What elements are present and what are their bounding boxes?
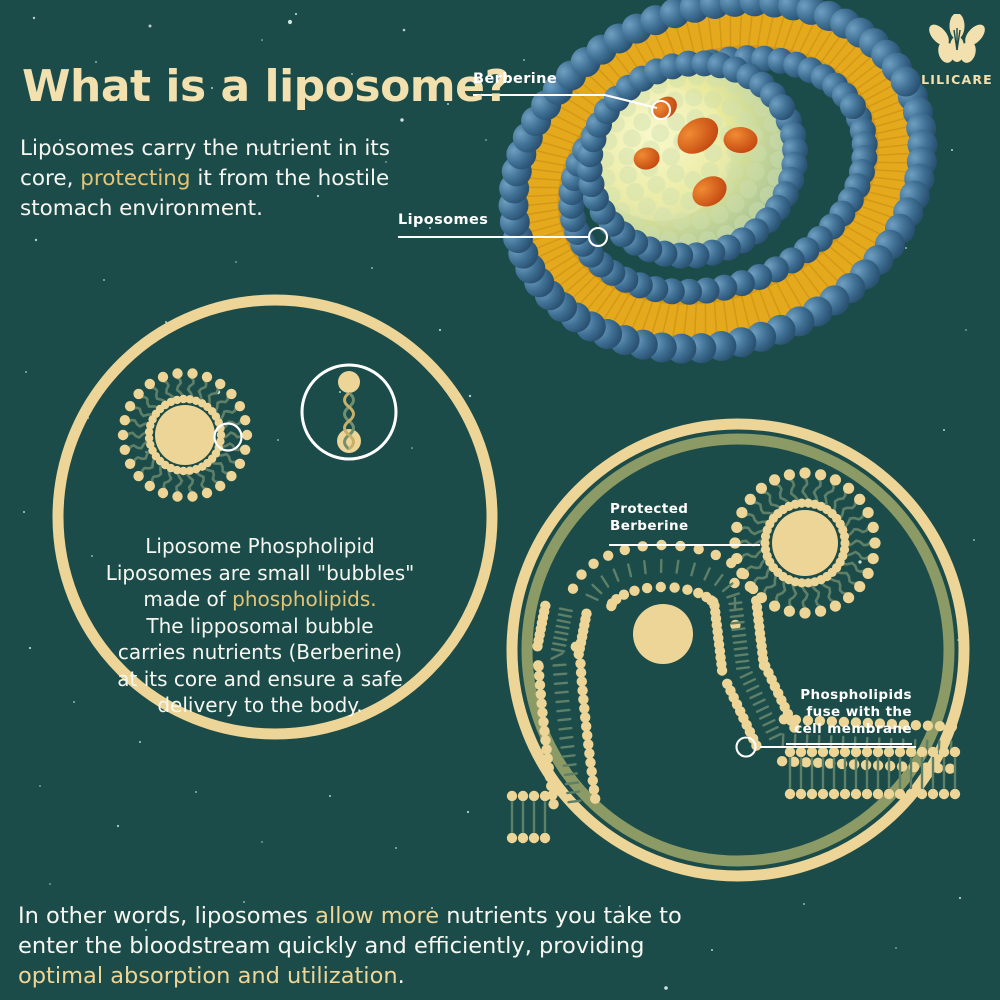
footer-paragraph: In other words, liposomes allow more nut…	[18, 901, 698, 991]
footer-part1: In other words, liposomes	[18, 903, 315, 929]
left-line-1: Liposome Phospholipid	[95, 533, 425, 560]
protected-line-1: Protected	[610, 501, 689, 518]
intro-highlight: protecting	[80, 166, 190, 191]
brand-name: LILICARE	[921, 72, 993, 87]
lily-flower-icon	[924, 14, 990, 66]
intro-paragraph: Liposomes carry the nutrient in its core…	[20, 134, 450, 224]
footer-highlight-1: allow more	[315, 903, 439, 929]
callout-label-berberine: Berberine	[473, 71, 557, 87]
callout-label-liposomes: Liposomes	[398, 212, 488, 228]
brand-logo[interactable]: LILICARE	[921, 14, 993, 87]
left-line-7: delivery to the body.	[95, 692, 425, 719]
protected-line-2: Berberine	[610, 518, 689, 535]
left-line-4: The lipposomal bubble	[95, 613, 425, 640]
left-line-2: Liposomes are small "bubbles"	[95, 560, 425, 587]
left-line-5: carries nutrients (Berberine)	[95, 639, 425, 666]
left-line-6: at its core and ensure a safe	[95, 666, 425, 693]
infographic-canvas: What is a liposome? Liposomes carry the …	[0, 0, 1000, 1000]
protected-core	[772, 510, 838, 576]
micelle-core	[155, 405, 215, 465]
fusion-payload-core	[633, 604, 693, 664]
phospho-line-2: fuse with the	[786, 704, 912, 721]
left-highlight: phospholipids.	[232, 587, 376, 611]
left-line-3: made of phospholipids.	[95, 586, 425, 613]
left-line-3a: made of	[143, 587, 232, 611]
phospho-line-1: Phospholipids	[786, 687, 912, 704]
callout-label-phospholipids-fuse: Phospholipids fuse with the cell membran…	[786, 687, 912, 738]
footer-part3: .	[398, 963, 405, 989]
callout-label-protected-berberine: Protected Berberine	[610, 501, 689, 535]
left-circle-body-text: Liposome Phospholipid Liposomes are smal…	[95, 533, 425, 719]
footer-highlight-2: optimal absorption and utilization	[18, 963, 398, 989]
phospho-line-3: cell membrane	[786, 721, 912, 738]
page-title: What is a liposome?	[22, 61, 510, 112]
